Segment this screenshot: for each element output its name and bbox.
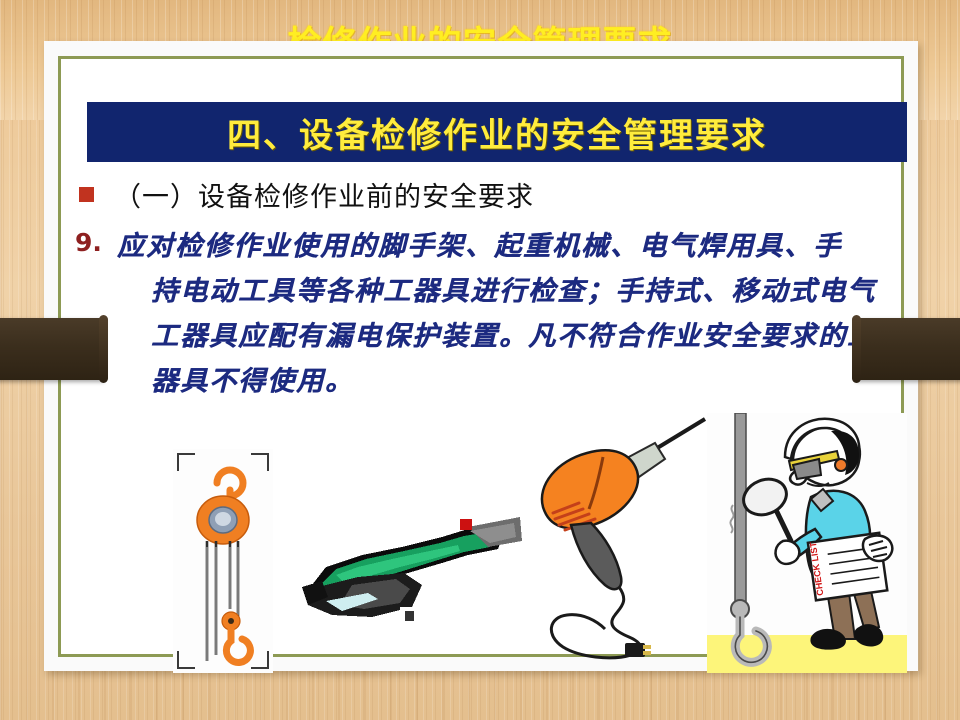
frame-corner-icon	[177, 453, 195, 471]
chain-hoist-photo	[173, 449, 273, 673]
body-line-stack: 应对检修作业使用的脚手架、起重机械、电气焊用具、手 持电动工具等各种工器具进行检…	[117, 224, 915, 404]
right-frame-bar-body	[856, 318, 960, 380]
body-paragraph: 9. 应对检修作业使用的脚手架、起重机械、电气焊用具、手 持电动工具等各种工器具…	[75, 224, 915, 404]
section-title-bar: 四、设备检修作业的安全管理要求	[87, 102, 907, 162]
subtitle-row: （一）设备检修作业前的安全要求	[87, 174, 907, 214]
frame-corner-icon	[177, 651, 195, 669]
left-frame-bar	[0, 318, 104, 380]
section-title-text: 四、设备检修作业的安全管理要求	[227, 108, 767, 157]
chain-hoist-drawing	[173, 449, 273, 673]
slide-panel: 四、设备检修作业的安全管理要求 （一）设备检修作业前的安全要求 9. 应对检修作…	[44, 41, 918, 671]
body-line: 应对检修作业使用的脚手架、起重机械、电气焊用具、手	[117, 224, 915, 269]
body-line: 持电动工具等各种工器具进行检查；手持式、移动式电气	[117, 269, 915, 314]
left-frame-bar-cap	[99, 315, 108, 383]
square-bullet-icon	[79, 187, 94, 202]
frame-corner-icon	[251, 453, 269, 471]
right-frame-bar	[856, 318, 960, 380]
slide-root: 检修作业的安全管理要求 四、设备检修作业的安全管理要求 （一）设备检修作业前的安…	[0, 0, 960, 720]
left-frame-bar-body	[0, 318, 104, 380]
body-line: 器具不得使用。	[117, 359, 915, 404]
inspector-cartoon: CHECK LIST	[707, 413, 907, 673]
illustration-strip: CHECK LIST	[87, 411, 907, 673]
slide-panel-inner-border: 四、设备检修作业的安全管理要求 （一）设备检修作业前的安全要求 9. 应对检修作…	[58, 56, 904, 657]
frame-corner-icon	[251, 651, 269, 669]
item-number: 9.	[75, 224, 117, 257]
green-angle-grinder	[292, 489, 522, 629]
subtitle-text: （一）设备检修作业前的安全要求	[114, 175, 534, 214]
right-frame-bar-cap	[852, 315, 861, 383]
orange-electric-drill	[519, 415, 709, 673]
body-line: 工器具应配有漏电保护装置。凡不符合作业安全要求的工	[117, 314, 915, 359]
